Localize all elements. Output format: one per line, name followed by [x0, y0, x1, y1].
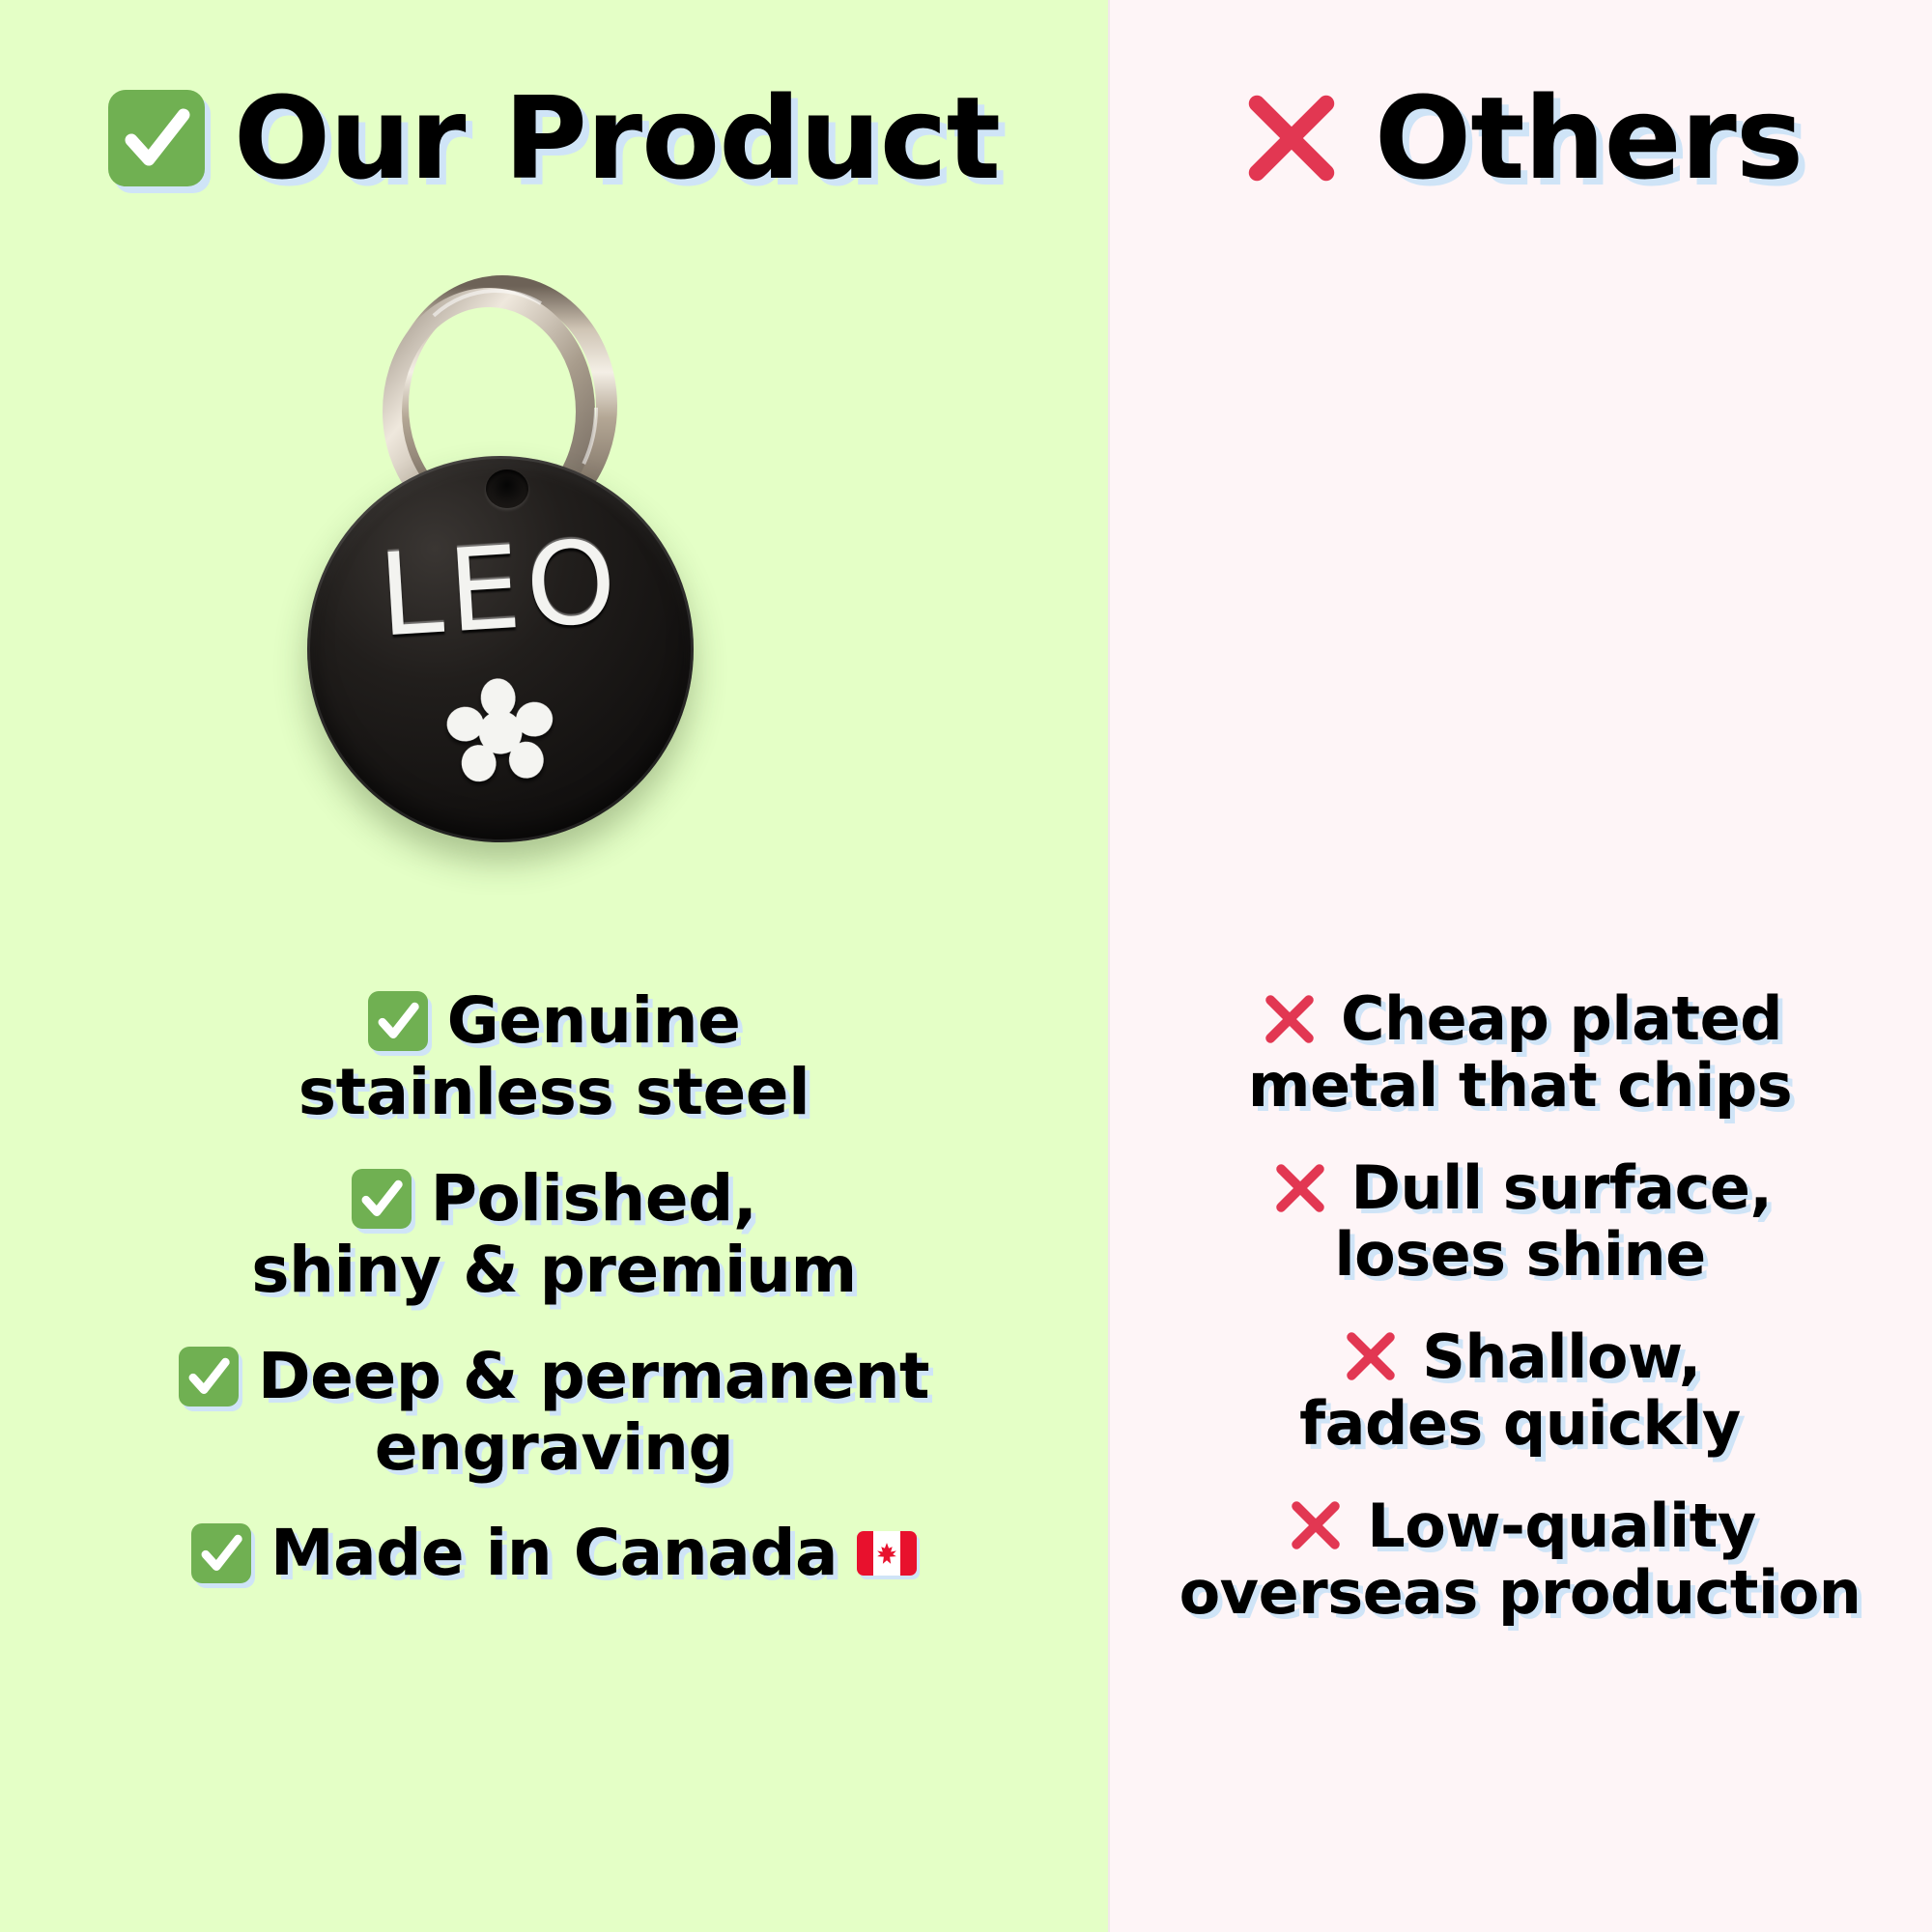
list-item-line-2: stainless steel	[298, 1057, 810, 1128]
list-item: Made in Canada	[0, 1518, 1108, 1589]
list-item-line-2: engraving	[375, 1412, 733, 1484]
list-item: Dull surface, loses shine	[1108, 1154, 1932, 1289]
our-product-heading: Our Product	[0, 81, 1108, 195]
list-item-line-1: Polished,	[431, 1163, 757, 1235]
others-panel: Others LEO	[1108, 0, 1932, 1932]
premium-pet-tag-image: LEO	[249, 241, 752, 918]
list-item-line-1: Cheap plated	[1341, 985, 1782, 1052]
our-product-benefit-list: Genuine stainless steel Polished, shiny …	[0, 985, 1108, 1624]
list-item-line-2: overseas production	[1179, 1559, 1861, 1626]
others-heading: Others	[1108, 81, 1932, 195]
list-item: Genuine stainless steel	[0, 985, 1108, 1128]
others-drawback-list: Cheap plated metal that chips Dull surfa…	[1108, 985, 1932, 1662]
list-item: Deep & permanent engraving	[0, 1341, 1108, 1484]
list-item-line-2: fades quickly	[1299, 1390, 1741, 1457]
our-product-panel: Our Product	[0, 0, 1108, 1932]
list-item-line-1: Genuine	[447, 985, 741, 1057]
list-item: Shallow, fades quickly	[1108, 1323, 1932, 1458]
list-item-line-1: Low-quality	[1367, 1492, 1756, 1559]
tag-disc-premium: LEO	[307, 456, 694, 842]
canada-flag-icon	[857, 1531, 917, 1576]
tag-hole	[486, 469, 528, 508]
list-item-line-1: Dull surface,	[1351, 1154, 1773, 1221]
white-check-mark-icon	[368, 991, 428, 1051]
list-item-line-1: Made in Canada	[270, 1518, 838, 1589]
white-check-mark-icon	[108, 90, 205, 186]
cross-mark-icon	[1339, 1324, 1403, 1388]
list-item-line-1: Deep & permanent	[258, 1341, 929, 1412]
cross-mark-icon	[1237, 84, 1346, 192]
cross-mark-icon	[1268, 1156, 1332, 1220]
list-item: Low-quality overseas production	[1108, 1492, 1932, 1627]
list-item-line-2: metal that chips	[1248, 1052, 1792, 1119]
list-item-line-2: shiny & premium	[251, 1235, 857, 1306]
white-check-mark-icon	[191, 1523, 251, 1583]
list-item: Polished, shiny & premium	[0, 1163, 1108, 1306]
panel-divider	[1108, 0, 1110, 1932]
white-check-mark-icon	[352, 1169, 412, 1229]
page-title-right: Others	[1375, 81, 1803, 195]
engraved-pet-name: LEO	[304, 520, 696, 657]
paw-print-icon	[442, 672, 558, 788]
cross-mark-icon	[1284, 1493, 1348, 1557]
list-item-line-2: loses shine	[1334, 1221, 1705, 1288]
list-item-line-1: Shallow,	[1422, 1323, 1701, 1390]
comparison-infographic: Our Product	[0, 0, 1932, 1932]
white-check-mark-icon	[179, 1347, 239, 1406]
page-title-left: Our Product	[234, 81, 1000, 195]
list-item: Cheap plated metal that chips	[1108, 985, 1932, 1120]
cross-mark-icon	[1258, 987, 1321, 1051]
